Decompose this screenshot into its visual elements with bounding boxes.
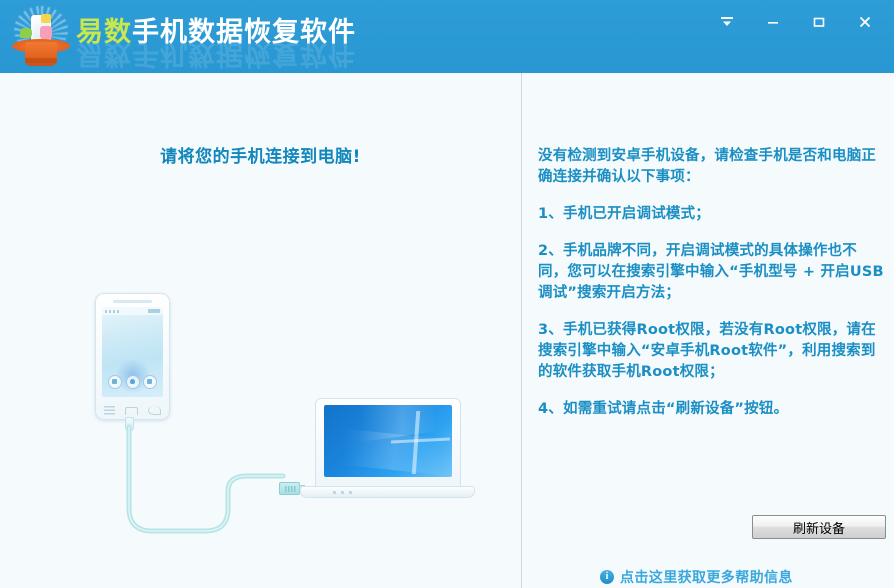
cable-phone-plug: [125, 417, 134, 431]
title-bar: 易数手机数据恢复软件 易数手机数据恢复软件: [0, 0, 894, 73]
signal-icon: [105, 310, 121, 313]
pane-divider: [521, 73, 522, 588]
info-icon: i: [600, 570, 614, 584]
help-link[interactable]: i 点击这里获取更多帮助信息: [600, 567, 793, 587]
phone-menu-icon: [104, 406, 115, 415]
refresh-device-button[interactable]: 刷新设备: [752, 515, 886, 539]
app-title-brand: 易数: [76, 17, 132, 48]
phone-speaker: [113, 300, 152, 303]
phone-back-icon: [148, 406, 161, 415]
phone-nav-bar: [104, 406, 161, 415]
close-button[interactable]: [848, 8, 882, 36]
logo-photo-icon: [41, 14, 51, 23]
laptop-screen: [324, 405, 452, 477]
phone-home-icon: [126, 375, 140, 389]
instructions-step-2: 2、手机品牌不同，开启调试模式的具体操作也不同，您可以在搜索引擎中输入“手机型号…: [538, 241, 886, 304]
maximize-button[interactable]: [802, 8, 836, 36]
phone-home-nav-icon: [125, 407, 138, 415]
content-area: 请将您的手机连接到电脑!: [0, 73, 894, 588]
application-window: 易数手机数据恢复软件 易数手机数据恢复软件: [0, 0, 894, 588]
logo-message-icon: [20, 28, 32, 38]
battery-icon: [148, 309, 160, 313]
instructions-intro: 没有检测到安卓手机设备，请检查手机是否和电脑正确连接并确认以下事项：: [538, 146, 886, 188]
phone-illustration: [95, 293, 170, 420]
instructions-step-4: 4、如需重试请点击“刷新设备”按钮。: [538, 399, 886, 420]
laptop-base: [300, 486, 475, 498]
logo-music-icon: [40, 26, 52, 39]
usb-connector: [279, 482, 300, 495]
maximize-icon: [811, 14, 827, 30]
usb-cable-icon: [95, 413, 295, 548]
app-title-rest: 手机数据恢复软件: [132, 17, 356, 48]
logo-hat-band: [25, 58, 57, 63]
laptop-illustration: [300, 398, 475, 502]
illustration-pane: 请将您的手机连接到电脑!: [0, 73, 521, 588]
help-link-label: 点击这里获取更多帮助信息: [620, 567, 793, 587]
instructions-step-3: 3、手机已获得Root权限，若没有Root权限，请在搜索引擎中输入“安卓手机Ro…: [538, 320, 886, 383]
windows-logo-icon: [391, 411, 450, 474]
instructions-pane: 没有检测到安卓手机设备，请检查手机是否和电脑正确连接并确认以下事项： 1、手机已…: [522, 73, 894, 588]
collapse-icon: [719, 14, 735, 30]
collapse-button[interactable]: [710, 8, 744, 36]
phone-status-bar: [102, 307, 163, 315]
window-controls: [710, 8, 882, 36]
laptop-trackpad: [333, 491, 355, 494]
instructions-step-1: 1、手机已开启调试模式；: [538, 204, 886, 225]
app-logo: [10, 6, 72, 68]
phone-dial-icon: [108, 375, 122, 389]
app-title: 易数手机数据恢复软件: [76, 16, 356, 50]
phone-apps-icon: [143, 375, 157, 389]
instructions-text: 没有检测到安卓手机设备，请检查手机是否和电脑正确连接并确认以下事项： 1、手机已…: [538, 146, 886, 420]
connect-heading: 请将您的手机连接到电脑!: [0, 142, 521, 167]
laptop-lid: [315, 398, 461, 488]
minimize-icon: [765, 14, 781, 30]
minimize-button[interactable]: [756, 8, 790, 36]
close-icon: [857, 14, 873, 30]
phone-screen: [102, 307, 163, 397]
phone-dock: [108, 375, 157, 389]
